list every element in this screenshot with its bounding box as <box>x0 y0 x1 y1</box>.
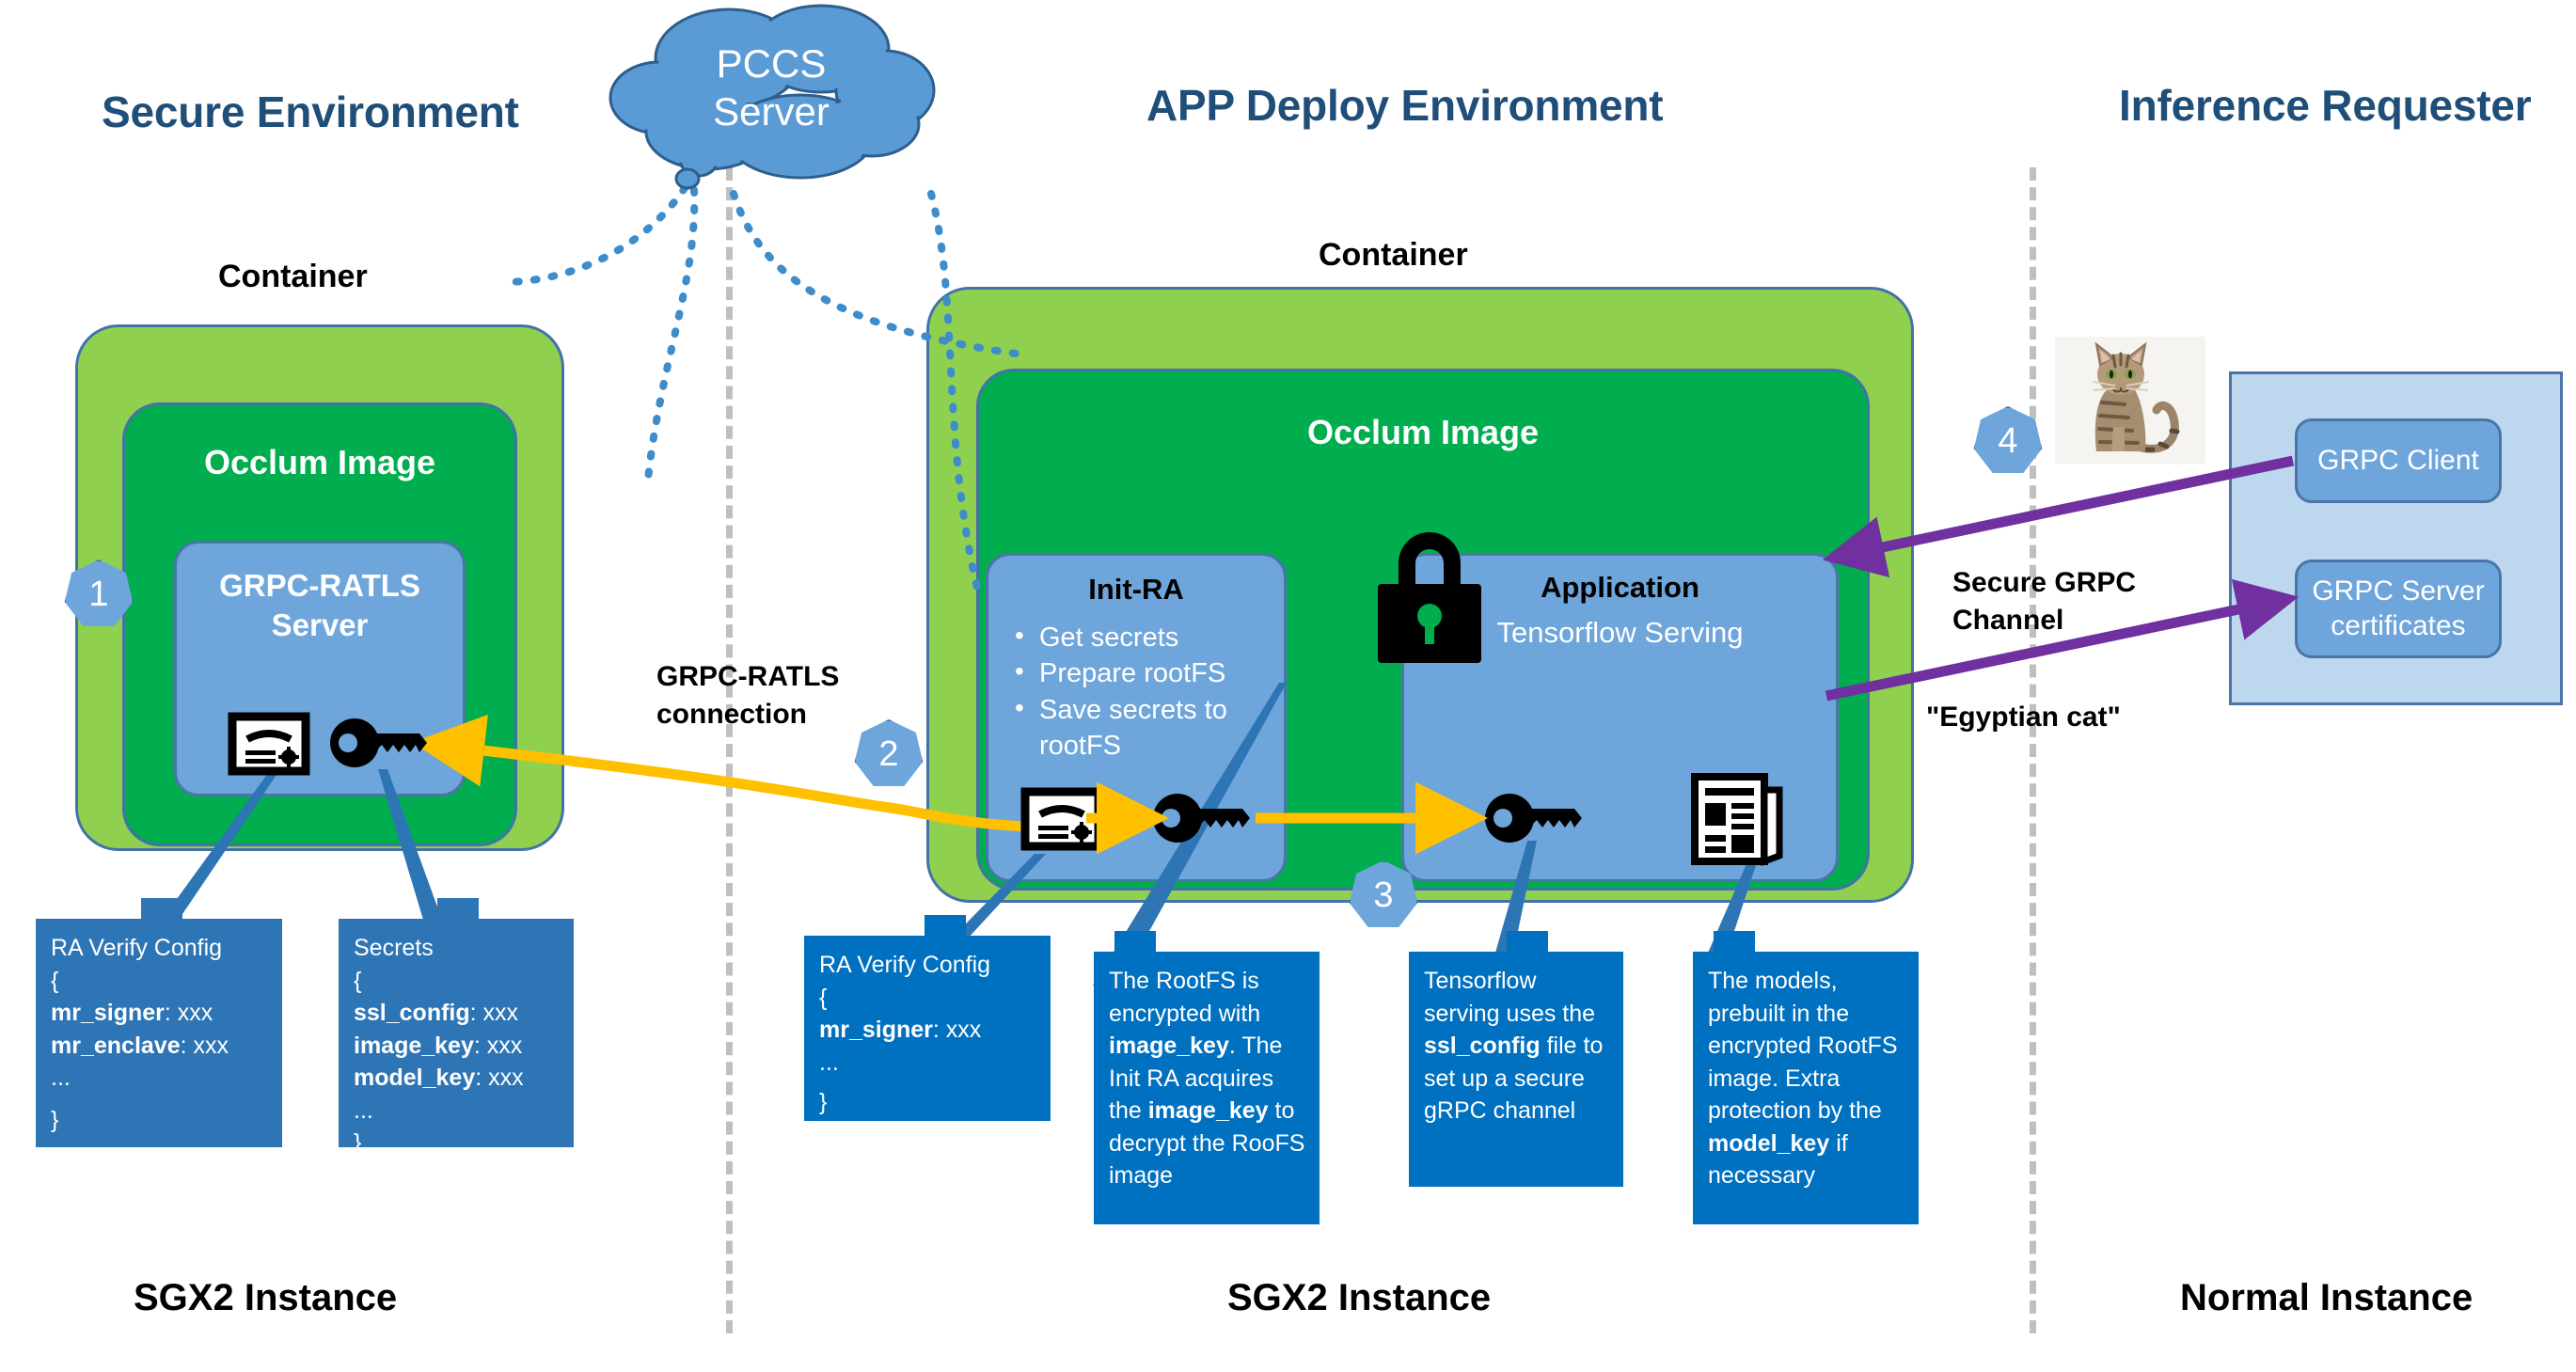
note-key: image_key <box>354 1033 474 1059</box>
note-notch-ra-verify-left <box>141 898 182 919</box>
instance-label-left: SGX2 Instance <box>134 1277 397 1319</box>
note-key: mr_signer <box>51 1000 165 1026</box>
note-val: : xxx <box>475 1064 523 1091</box>
pccs-cloud-label: PCCS Server <box>607 39 936 135</box>
note-line: model_key: xxx <box>354 1062 561 1095</box>
note-line: ssl_config: xxx <box>354 997 561 1030</box>
diagram-canvas: Secure Environment APP Deploy Environmen… <box>0 0 2576 1372</box>
env-title-requester: Inference Requester <box>2119 80 2531 131</box>
egyptian-cat-photo <box>2055 337 2205 464</box>
note-val: : xxx <box>933 1017 981 1043</box>
padlock-icon <box>1368 522 1491 663</box>
note-line: ... <box>819 1047 1037 1080</box>
instance-label-right: Normal Instance <box>2180 1277 2473 1319</box>
grpc-server-cert-label: GRPC Server certificates <box>2312 575 2484 643</box>
env-title-deploy: APP Deploy Environment <box>1146 80 1663 131</box>
grpc-client-label: GRPC Client <box>2317 444 2479 479</box>
note-line: Secrets <box>354 932 561 965</box>
note-val: : xxx <box>470 1000 518 1026</box>
note-notch-secrets <box>437 898 479 919</box>
grpc-ratls-server-label: GRPC-RATLS Server <box>177 566 463 645</box>
note-models: The models, prebuilt in the encrypted Ro… <box>1693 952 1919 1224</box>
note-key: ssl_config <box>354 1000 470 1026</box>
initra-to-app-arrow <box>1256 804 1491 832</box>
secure-grpc-channel-arrows <box>1815 451 2314 733</box>
note-val: : xxx <box>165 1000 213 1026</box>
cert-label-line2: certificates <box>2331 610 2465 641</box>
note-notch-ssl-config <box>1507 931 1548 952</box>
note-line: mr_enclave: xxx <box>51 1030 269 1063</box>
note-val: : xxx <box>181 1033 229 1059</box>
note-line: mr_signer: xxx <box>51 997 269 1030</box>
note-notch-rootfs <box>1114 931 1156 952</box>
container-label-middle: Container <box>1319 237 1468 274</box>
env-title-secure: Secure Environment <box>102 87 519 137</box>
note-line: { <box>51 965 269 998</box>
divider-right <box>2030 167 2036 1333</box>
key-icon <box>1484 792 1584 844</box>
grpc-client-box[interactable]: GRPC Client <box>2295 418 2502 503</box>
grpc-server-certificates-box[interactable]: GRPC Server certificates <box>2295 560 2502 658</box>
note-line: ... <box>354 1095 561 1128</box>
note-notch-ra-verify-middle <box>925 915 966 936</box>
note-line: } <box>354 1127 561 1159</box>
instance-label-middle: SGX2 Instance <box>1227 1277 1491 1319</box>
grpc-ratls-line1: GRPC-RATLS <box>219 568 420 603</box>
grpc-ratls-line2: Server <box>272 607 369 642</box>
note-line: mr_signer: xxx <box>819 1014 1037 1047</box>
attestation-dotted-line-right <box>922 188 1223 639</box>
note-rootfs: The RootFS is encrypted with image_key. … <box>1094 952 1320 1224</box>
pccs-label-line2: Server <box>713 89 830 134</box>
note-line: ... <box>51 1062 269 1095</box>
note-val: : xxx <box>474 1033 522 1059</box>
note-line: RA Verify Config <box>51 932 269 965</box>
init-ra-internal-arrow <box>1086 804 1171 832</box>
pccs-server-cloud: PCCS Server <box>607 0 936 202</box>
grpc-ratls-connection-label: GRPC-RATLS connection <box>656 658 839 733</box>
note-line: } <box>51 1104 269 1137</box>
note-ra-verify-left: RA Verify Config { mr_signer: xxx mr_enc… <box>36 919 282 1147</box>
note-line: RA Verify Config <box>819 949 1037 982</box>
note-ssl-config: Tensorflow serving uses the ssl_config f… <box>1409 952 1623 1187</box>
certificate-icon <box>230 715 308 773</box>
note-key: mr_signer <box>819 1017 933 1043</box>
cert-label-line1: GRPC Server <box>2312 576 2484 607</box>
note-line: image_key: xxx <box>354 1030 561 1063</box>
note-line: { <box>354 965 561 998</box>
key-icon <box>329 717 429 769</box>
pccs-label-line1: PCCS <box>717 41 827 86</box>
note-line: { <box>819 982 1037 1015</box>
newspaper-icon <box>1693 769 1787 863</box>
note-ra-verify-middle: RA Verify Config { mr_signer: xxx ... } <box>804 936 1051 1121</box>
note-secrets: Secrets { ssl_config: xxx image_key: xxx… <box>339 919 574 1147</box>
note-notch-models <box>1714 931 1755 952</box>
note-line: } <box>819 1086 1037 1119</box>
note-key: model_key <box>354 1064 475 1091</box>
note-key: mr_enclave <box>51 1033 181 1059</box>
container-label-left: Container <box>218 259 368 295</box>
